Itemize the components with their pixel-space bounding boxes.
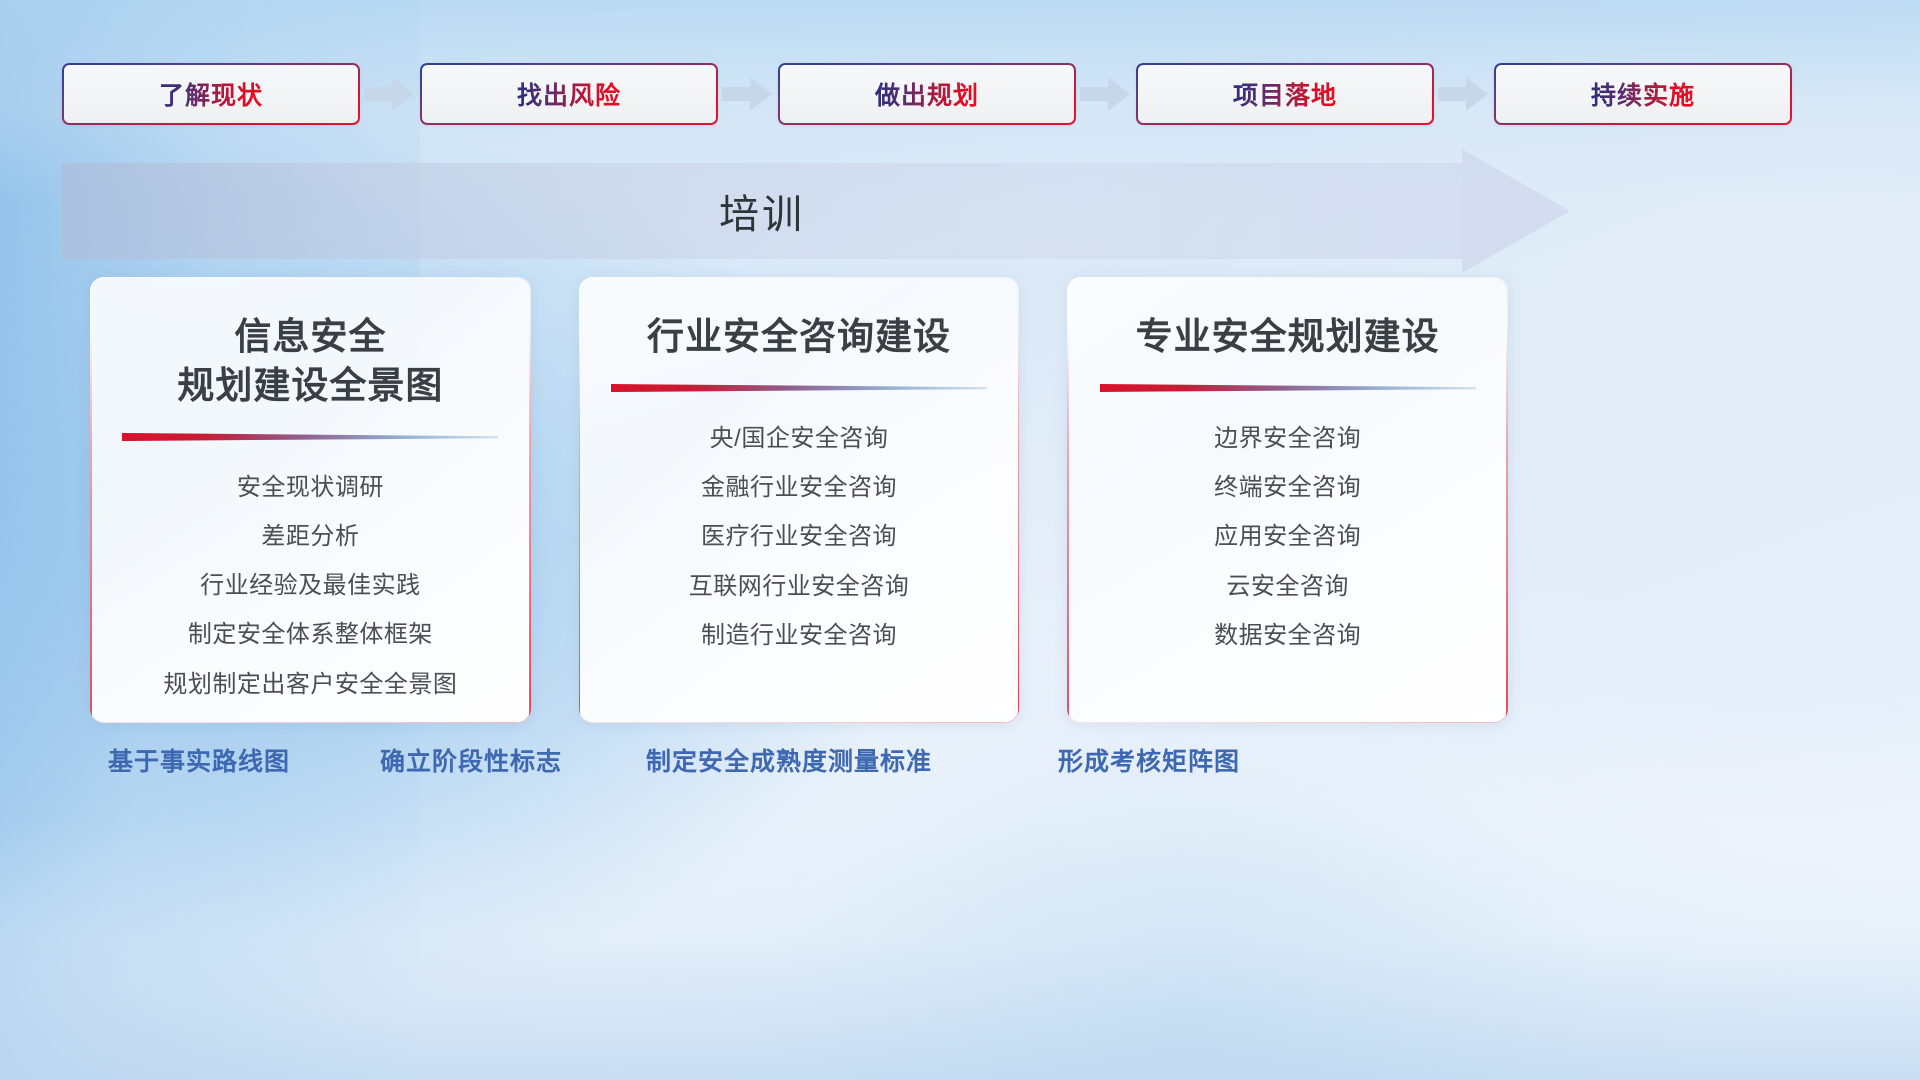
list-item: 医疗行业安全咨询 bbox=[689, 516, 910, 557]
card-information-security-blueprint[interactable]: 信息安全 规划建设全景图 bbox=[90, 277, 531, 723]
step-box-2[interactable]: 找出风险 bbox=[420, 63, 718, 125]
caption-label: 确立阶段性标志 bbox=[380, 742, 562, 778]
process-step-row: 了解现状 找出风险 做出规划 项目落地 持续实施 bbox=[62, 63, 1796, 125]
list-item: 制定安全体系整体框架 bbox=[163, 614, 457, 655]
step-label: 项目落地 bbox=[1233, 76, 1337, 112]
card-item-list: 安全现状调研 差距分析 行业经验及最佳实践 制定安全体系整体框架 规划制定出客户… bbox=[163, 467, 457, 705]
list-item: 互联网行业安全咨询 bbox=[689, 566, 910, 607]
card-professional-security-planning[interactable]: 专业安全规划建设 bbox=[1067, 277, 1508, 723]
card-item-list: 边界安全咨询 终端安全咨询 应用安全咨询 云安全咨询 数据安全咨询 bbox=[1214, 418, 1361, 656]
card-title: 专业安全规划建设 bbox=[1136, 313, 1440, 362]
list-item: 规划制定出客户安全全景图 bbox=[163, 664, 457, 705]
list-item: 边界安全咨询 bbox=[1214, 418, 1361, 459]
caption-label: 形成考核矩阵图 bbox=[1058, 742, 1240, 778]
list-item: 行业经验及最佳实践 bbox=[163, 565, 457, 606]
step-label: 找出风险 bbox=[517, 76, 621, 112]
card-row: 信息安全 规划建设全景图 bbox=[90, 277, 1508, 723]
card-title-line-2: 规划建设全景图 bbox=[177, 362, 443, 411]
card-divider bbox=[122, 431, 498, 443]
training-banner: 培训 bbox=[62, 163, 1522, 259]
list-item: 终端安全咨询 bbox=[1214, 467, 1361, 508]
list-item: 金融行业安全咨询 bbox=[689, 467, 910, 508]
list-item: 制造行业安全咨询 bbox=[689, 615, 910, 656]
step-box-5[interactable]: 持续实施 bbox=[1494, 63, 1792, 125]
card-divider bbox=[1100, 382, 1476, 394]
card-title-line-1: 专业安全规划建设 bbox=[1136, 313, 1440, 362]
caption-row: 基于事实路线图 确立阶段性标志 制定安全成熟度测量标准 形成考核矩阵图 bbox=[90, 742, 1510, 788]
step-arrow-icon-3 bbox=[1076, 72, 1136, 116]
card-title-line-1: 行业安全咨询建设 bbox=[647, 313, 951, 362]
list-item: 应用安全咨询 bbox=[1214, 516, 1361, 557]
step-arrow-icon-4 bbox=[1434, 72, 1494, 116]
step-box-4[interactable]: 项目落地 bbox=[1136, 63, 1434, 125]
card-title-line-1: 信息安全 bbox=[177, 313, 443, 362]
caption-label: 基于事实路线图 bbox=[108, 742, 290, 778]
card-divider bbox=[611, 382, 987, 394]
step-box-1[interactable]: 了解现状 bbox=[62, 63, 360, 125]
list-item: 数据安全咨询 bbox=[1214, 615, 1361, 656]
step-arrow-icon-1 bbox=[360, 72, 420, 116]
step-box-3[interactable]: 做出规划 bbox=[778, 63, 1076, 125]
background-bottom-wash bbox=[0, 820, 1920, 1080]
card-item-list: 央/国企安全咨询 金融行业安全咨询 医疗行业安全咨询 互联网行业安全咨询 制造行… bbox=[689, 418, 910, 656]
step-label: 做出规划 bbox=[875, 76, 979, 112]
card-industry-security-consulting[interactable]: 行业安全咨询建设 bbox=[579, 277, 1020, 723]
caption-label: 制定安全成熟度测量标准 bbox=[646, 742, 932, 778]
list-item: 云安全咨询 bbox=[1214, 566, 1361, 607]
card-title: 信息安全 规划建设全景图 bbox=[177, 313, 443, 411]
step-arrow-icon-2 bbox=[718, 72, 778, 116]
list-item: 安全现状调研 bbox=[163, 467, 457, 508]
list-item: 差距分析 bbox=[163, 516, 457, 557]
training-banner-title: 培训 bbox=[62, 163, 1522, 259]
step-label: 了解现状 bbox=[159, 76, 263, 112]
card-title: 行业安全咨询建设 bbox=[647, 313, 951, 362]
step-label: 持续实施 bbox=[1591, 76, 1695, 112]
list-item: 央/国企安全咨询 bbox=[689, 418, 910, 459]
